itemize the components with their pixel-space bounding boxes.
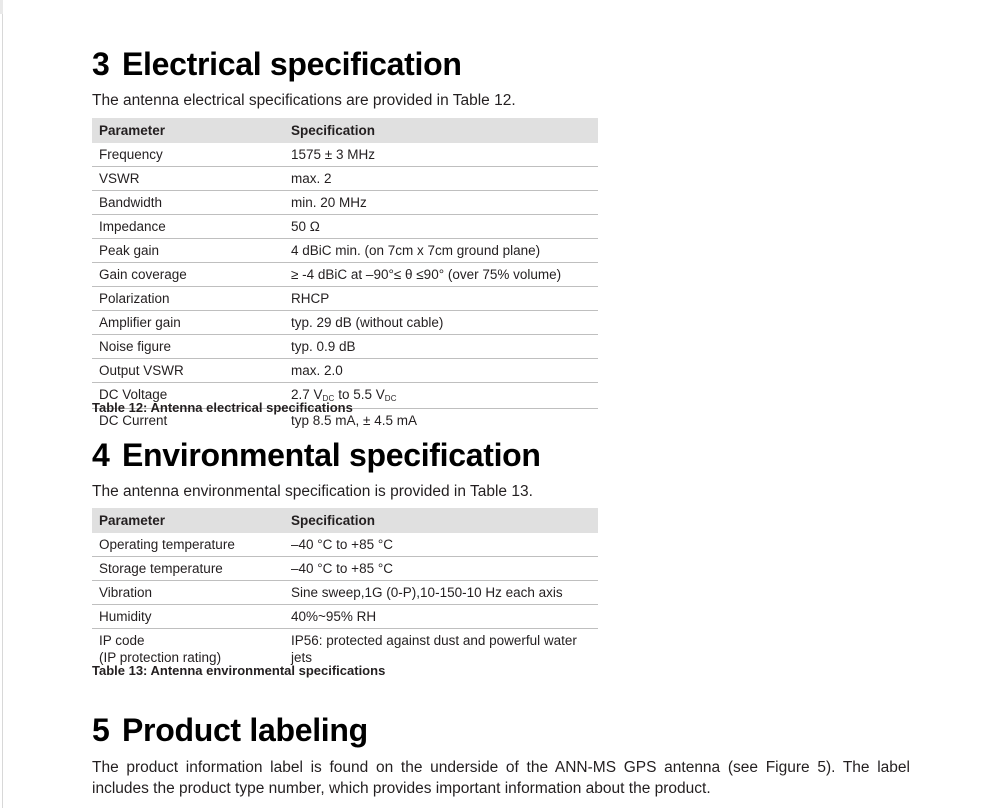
table-row: Amplifier gaintyp. 29 dB (without cable) [92,311,598,335]
cell-parameter: Gain coverage [92,263,284,287]
cell-specification: –40 °C to +85 °C [284,557,598,581]
table-row: PolarizationRHCP [92,287,598,311]
section-title-3: Electrical specification [122,46,462,82]
table-body-electrical: Frequency1575 ± 3 MHzVSWRmax. 2Bandwidth… [92,143,598,432]
subscript-text: DC [385,394,397,403]
cell-specification: ≥ -4 dBiC at –90°≤ θ ≤90° (over 75% volu… [284,263,598,287]
table-body-environmental: Operating temperature–40 °C to +85 °CSto… [92,533,598,669]
table-row: Storage temperature–40 °C to +85 °C [92,557,598,581]
section-title-5: Product labeling [122,712,368,748]
section-intro-electrical: The antenna electrical specifications ar… [92,91,516,111]
section-number-3: 3 [92,46,122,82]
section-heading-labeling: 5Product labeling [92,712,368,748]
column-header-parameter: Parameter [92,508,284,533]
cell-parameter: Amplifier gain [92,311,284,335]
cell-parameter: VSWR [92,167,284,191]
cell-specification: typ. 0.9 dB [284,335,598,359]
cell-parameter: Output VSWR [92,359,284,383]
cell-specification: 50 Ω [284,215,598,239]
table-row: VSWRmax. 2 [92,167,598,191]
cell-parameter: Operating temperature [92,533,284,557]
page-scan-edge-line [2,0,3,808]
table-row: Impedance50 Ω [92,215,598,239]
table-row: Peak gain4 dBiC min. (on 7cm x 7cm groun… [92,239,598,263]
section-number-5: 5 [92,712,122,748]
table-environmental-specifications: Parameter Specification Operating temper… [92,508,598,669]
table-caption-12: Table 12: Antenna electrical specificati… [92,400,353,415]
section-paragraph-labeling: The product information label is found o… [92,757,910,799]
column-header-parameter: Parameter [92,118,284,143]
cell-specification: max. 2.0 [284,359,598,383]
table-row: Output VSWRmax. 2.0 [92,359,598,383]
section-title-4: Environmental specification [122,437,541,473]
section-number-4: 4 [92,437,122,473]
section-heading-environmental: 4Environmental specification [92,437,541,473]
table-header-row: Parameter Specification [92,118,598,143]
cell-specification: 1575 ± 3 MHz [284,143,598,167]
page-scan-corner-mark [0,0,3,14]
table-row: Frequency1575 ± 3 MHz [92,143,598,167]
column-header-specification: Specification [284,118,598,143]
cell-specification: 4 dBiC min. (on 7cm x 7cm ground plane) [284,239,598,263]
column-header-specification: Specification [284,508,598,533]
cell-parameter: Noise figure [92,335,284,359]
table-row: Noise figuretyp. 0.9 dB [92,335,598,359]
section-heading-electrical: 3Electrical specification [92,46,462,82]
cell-parameter: Humidity [92,605,284,629]
cell-parameter: Bandwidth [92,191,284,215]
table-header-row: Parameter Specification [92,508,598,533]
table-row: Humidity40%~95% RH [92,605,598,629]
table-row: VibrationSine sweep,1G (0-P),10-150-10 H… [92,581,598,605]
section-intro-environmental: The antenna environmental specification … [92,482,533,502]
cell-specification: 40%~95% RH [284,605,598,629]
cell-specification: min. 20 MHz [284,191,598,215]
table-row: Bandwidthmin. 20 MHz [92,191,598,215]
cell-specification: –40 °C to +85 °C [284,533,598,557]
cell-specification: typ. 29 dB (without cable) [284,311,598,335]
cell-specification: max. 2 [284,167,598,191]
table-row: Operating temperature–40 °C to +85 °C [92,533,598,557]
cell-parameter: Frequency [92,143,284,167]
cell-parameter: Impedance [92,215,284,239]
cell-parameter: Peak gain [92,239,284,263]
table-electrical-specifications: Parameter Specification Frequency1575 ± … [92,118,598,432]
cell-parameter: Vibration [92,581,284,605]
table-caption-13: Table 13: Antenna environmental specific… [92,663,385,678]
table-row: Gain coverage≥ -4 dBiC at –90°≤ θ ≤90° (… [92,263,598,287]
cell-specification: RHCP [284,287,598,311]
cell-parameter: Polarization [92,287,284,311]
cell-parameter: Storage temperature [92,557,284,581]
cell-specification: Sine sweep,1G (0-P),10-150-10 Hz each ax… [284,581,598,605]
